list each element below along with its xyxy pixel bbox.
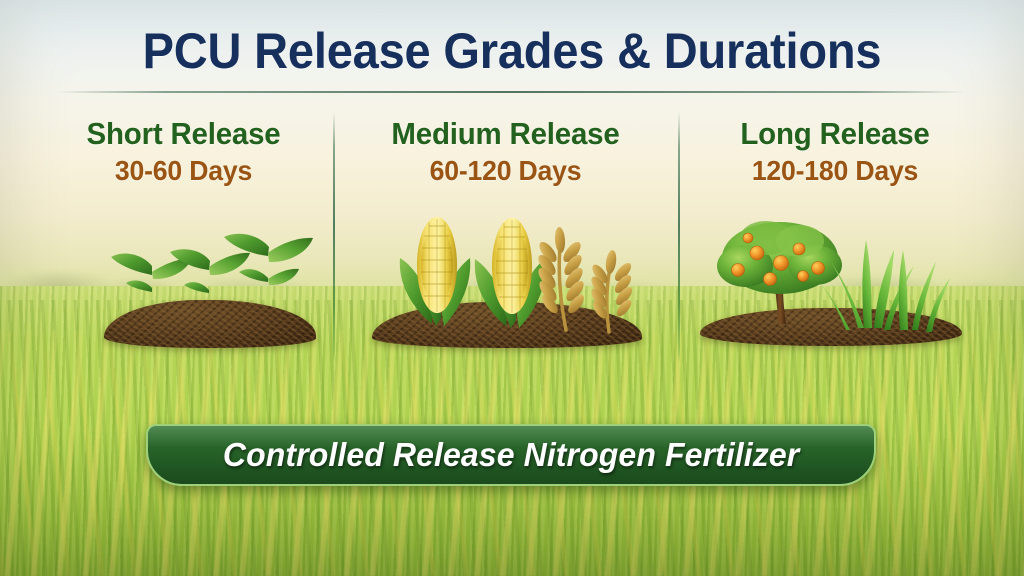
bottom-banner: Controlled Release Nitrogen Fertilizer bbox=[146, 424, 876, 486]
column-short-release: Short Release 30-60 Days bbox=[36, 118, 331, 186]
infographic-poster: PCU Release Grades & Durations Short Rel… bbox=[0, 0, 1024, 576]
page-title: PCU Release Grades & Durations bbox=[31, 22, 994, 80]
column-duration-short: 30-60 Days bbox=[43, 156, 323, 186]
title-underline-rule bbox=[56, 91, 966, 93]
column-medium-release: Medium Release 60-120 Days bbox=[358, 118, 653, 186]
banner-text: Controlled Release Nitrogen Fertilizer bbox=[223, 436, 799, 474]
release-grade-columns: Short Release 30-60 Days Medium Release … bbox=[0, 118, 1024, 228]
column-long-release: Long Release 120-180 Days bbox=[690, 118, 980, 186]
column-duration-long: 120-180 Days bbox=[697, 156, 973, 186]
column-title-medium: Medium Release bbox=[365, 118, 645, 151]
column-duration-medium: 60-120 Days bbox=[365, 156, 645, 186]
column-title-long: Long Release bbox=[697, 118, 973, 151]
column-title-short: Short Release bbox=[43, 118, 323, 151]
